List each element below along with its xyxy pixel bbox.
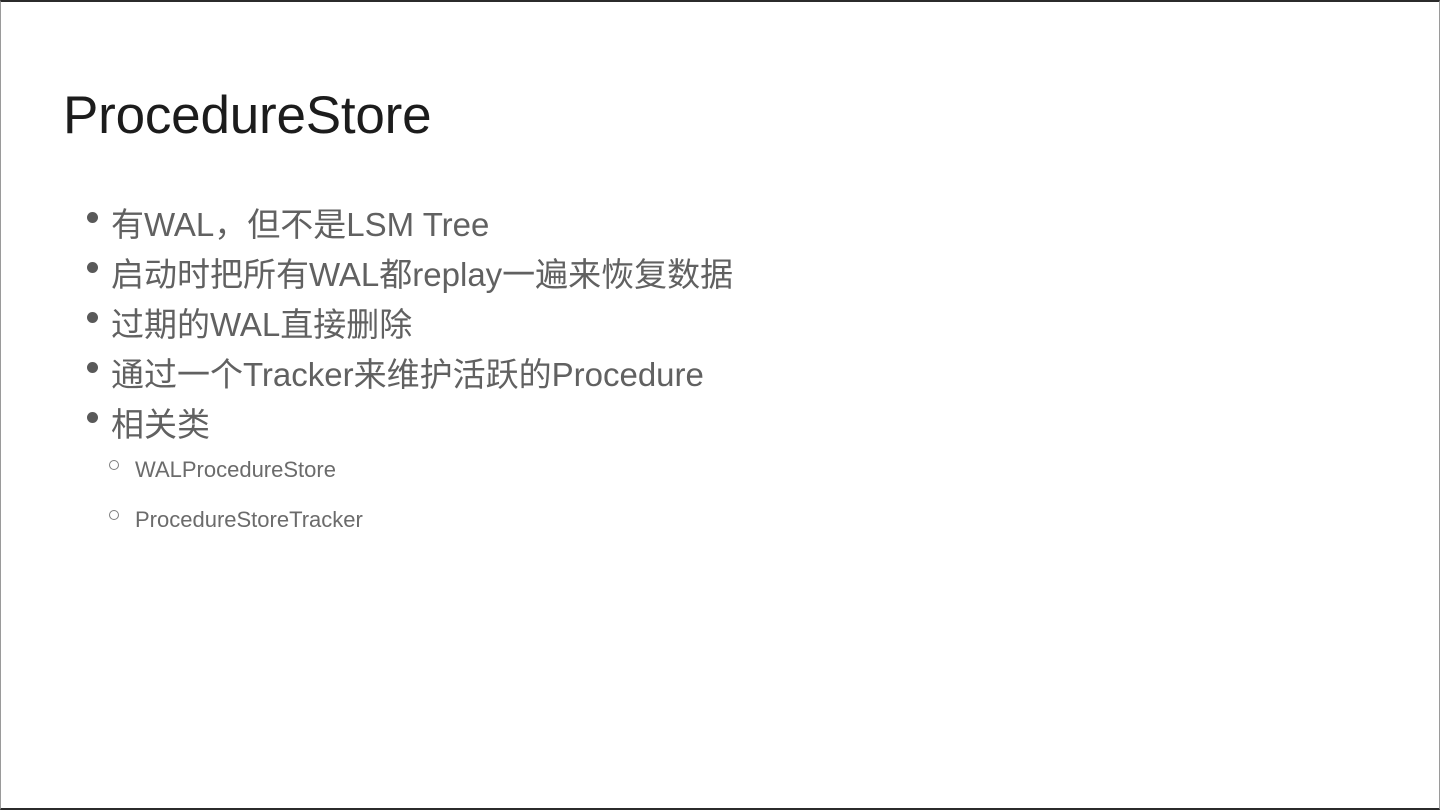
slide-canvas: ProcedureStore 有WAL，但不是LSM Tree 启动时把所有WA… xyxy=(0,0,1440,810)
sub-list-item: ProcedureStoreTracker xyxy=(63,500,1363,550)
list-item: 相关类 xyxy=(63,400,1363,450)
list-item-label: 通过一个Tracker来维护活跃的Procedure xyxy=(111,350,704,400)
list-item-label: 过期的WAL直接删除 xyxy=(111,300,412,350)
bullet-circle-icon xyxy=(87,450,135,478)
bullet-disc-icon xyxy=(63,400,111,433)
sub-list-item-label: ProcedureStoreTracker xyxy=(135,500,363,539)
list-item-label: 有WAL，但不是LSM Tree xyxy=(111,200,489,250)
bullet-disc-icon xyxy=(63,300,111,333)
list-item: 有WAL，但不是LSM Tree xyxy=(63,200,1363,250)
bullet-disc-icon xyxy=(63,200,111,233)
page-title: ProcedureStore xyxy=(63,88,431,144)
list-item: 过期的WAL直接删除 xyxy=(63,300,1363,350)
sub-list-item-label: WALProcedureStore xyxy=(135,450,336,489)
sub-list-item: WALProcedureStore xyxy=(63,450,1363,500)
bullet-list: 有WAL，但不是LSM Tree 启动时把所有WAL都replay一遍来恢复数据… xyxy=(63,200,1363,550)
list-item: 通过一个Tracker来维护活跃的Procedure xyxy=(63,350,1363,400)
bullet-disc-icon xyxy=(63,350,111,383)
bullet-circle-icon xyxy=(87,500,135,528)
list-item-label: 启动时把所有WAL都replay一遍来恢复数据 xyxy=(111,250,733,300)
list-item-label: 相关类 xyxy=(111,400,210,450)
list-item: 启动时把所有WAL都replay一遍来恢复数据 xyxy=(63,250,1363,300)
bullet-disc-icon xyxy=(63,250,111,283)
